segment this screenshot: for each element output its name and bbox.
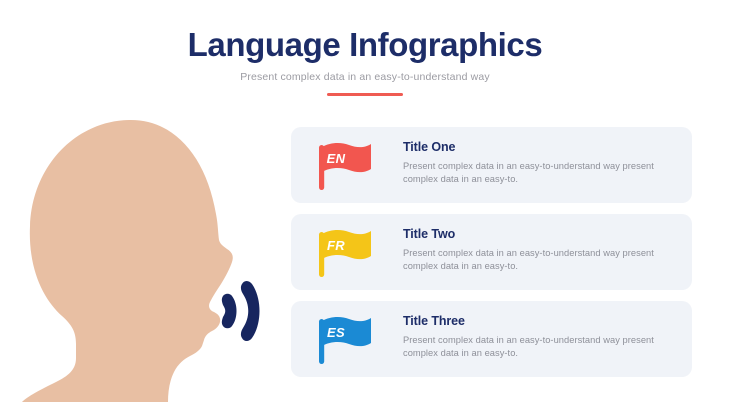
info-card-list: EN Title One Present complex data in an … <box>291 127 692 377</box>
slide-header: Language Infographics Present complex da… <box>0 26 730 96</box>
speech-wave-outer <box>241 281 260 341</box>
info-card-body: Title Two Present complex data in an eas… <box>403 227 670 273</box>
page-title: Language Infographics <box>0 26 730 64</box>
head-profile-shape <box>22 120 233 402</box>
card-title: Title Two <box>403 227 670 242</box>
flag-en-icon: EN <box>315 141 377 191</box>
flag-label: ES <box>327 325 345 340</box>
card-description: Present complex data in an easy-to-under… <box>403 160 665 186</box>
flag-es-icon: ES <box>315 315 377 365</box>
speaking-head-svg <box>18 118 283 403</box>
flag-fr-svg: FR <box>315 228 377 278</box>
info-card[interactable]: EN Title One Present complex data in an … <box>291 127 692 203</box>
title-divider <box>327 93 403 96</box>
flag-label: FR <box>327 238 345 253</box>
info-card-body: Title Three Present complex data in an e… <box>403 314 670 360</box>
card-description: Present complex data in an easy-to-under… <box>403 334 665 360</box>
flag-en-svg: EN <box>315 141 377 191</box>
flag-es-svg: ES <box>315 315 377 365</box>
card-title: Title One <box>403 140 670 155</box>
info-card[interactable]: ES Title Three Present complex data in a… <box>291 301 692 377</box>
info-card[interactable]: FR Title Two Present complex data in an … <box>291 214 692 290</box>
speech-wave-inner <box>222 294 237 329</box>
slide-canvas: Language Infographics Present complex da… <box>0 0 730 411</box>
flag-fr-icon: FR <box>315 228 377 278</box>
flag-label: EN <box>327 151 346 166</box>
card-description: Present complex data in an easy-to-under… <box>403 247 665 273</box>
info-card-body: Title One Present complex data in an eas… <box>403 140 670 186</box>
speaking-head-illustration <box>18 118 283 403</box>
page-subtitle: Present complex data in an easy-to-under… <box>0 70 730 84</box>
card-title: Title Three <box>403 314 670 329</box>
